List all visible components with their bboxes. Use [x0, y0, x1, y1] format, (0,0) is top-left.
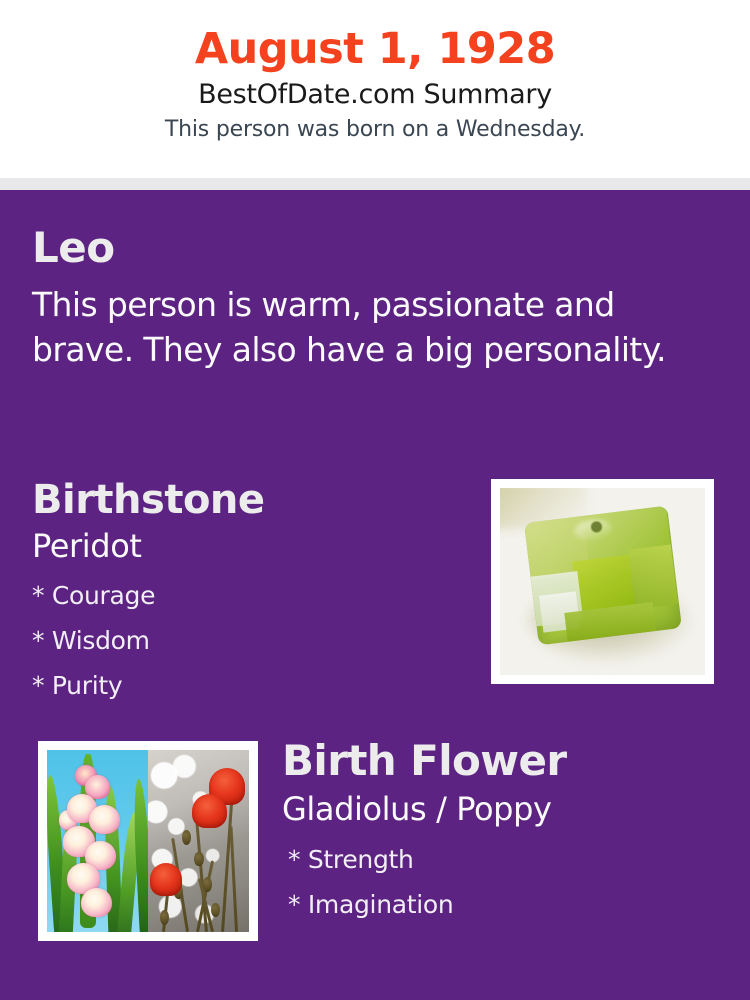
birth-flower-name: Gladiolus / Poppy: [282, 787, 712, 831]
poppy-photo-half: [148, 750, 249, 932]
birth-flower-heading: Birth Flower: [282, 735, 712, 787]
poppy-bloom: [192, 794, 226, 829]
gem-facet: [628, 545, 678, 609]
gladiolus-photo-half: [47, 750, 148, 932]
list-item: * Wisdom: [32, 618, 452, 663]
zodiac-sign-heading: Leo: [32, 223, 692, 273]
zodiac-section: Leo This person is warm, passionate and …: [32, 223, 692, 372]
birthstone-trait-list: * Courage * Wisdom * Purity: [32, 573, 452, 708]
gladiolus-and-poppy-image: [47, 750, 249, 932]
birthstone-image-frame: [491, 479, 714, 684]
list-item: * Strength: [288, 837, 712, 882]
header-divider: [0, 178, 750, 190]
birth-flower-image-frame: [38, 741, 258, 941]
poppy-bloom: [150, 863, 182, 896]
poppy-bud: [211, 903, 220, 918]
poppy-bud: [194, 852, 203, 867]
summary-card: August 1, 1928 BestOfDate.com Summary Th…: [0, 0, 750, 1000]
birth-weekday-text: This person was born on a Wednesday.: [0, 114, 750, 146]
peridot-gemstone-image: [500, 488, 705, 675]
gem-crystal: [524, 506, 681, 646]
poppy-stem: [229, 827, 237, 932]
gladiolus-bloom: [81, 888, 111, 917]
gladiolus-bloom: [89, 805, 119, 834]
list-item: * Imagination: [288, 882, 712, 927]
poppy-bud: [160, 910, 169, 925]
list-item: * Purity: [32, 663, 452, 708]
poppy-bud: [182, 830, 191, 845]
card-header: August 1, 1928 BestOfDate.com Summary Th…: [0, 0, 750, 178]
birth-flower-section: Birth Flower Gladiolus / Poppy * Strengt…: [282, 735, 712, 927]
gem-facet: [572, 555, 638, 611]
zodiac-description: This person is warm, passionate and brav…: [32, 282, 687, 372]
page-title: August 1, 1928: [0, 22, 750, 76]
birthstone-name: Peridot: [32, 525, 452, 567]
list-item: * Courage: [32, 573, 452, 618]
site-summary-subtitle: BestOfDate.com Summary: [0, 76, 750, 114]
birthstone-heading: Birthstone: [32, 475, 452, 525]
poppy-bud: [203, 877, 212, 892]
birthstone-section: Birthstone Peridot * Courage * Wisdom * …: [32, 475, 452, 708]
birth-flower-trait-list: * Strength * Imagination: [288, 837, 712, 927]
